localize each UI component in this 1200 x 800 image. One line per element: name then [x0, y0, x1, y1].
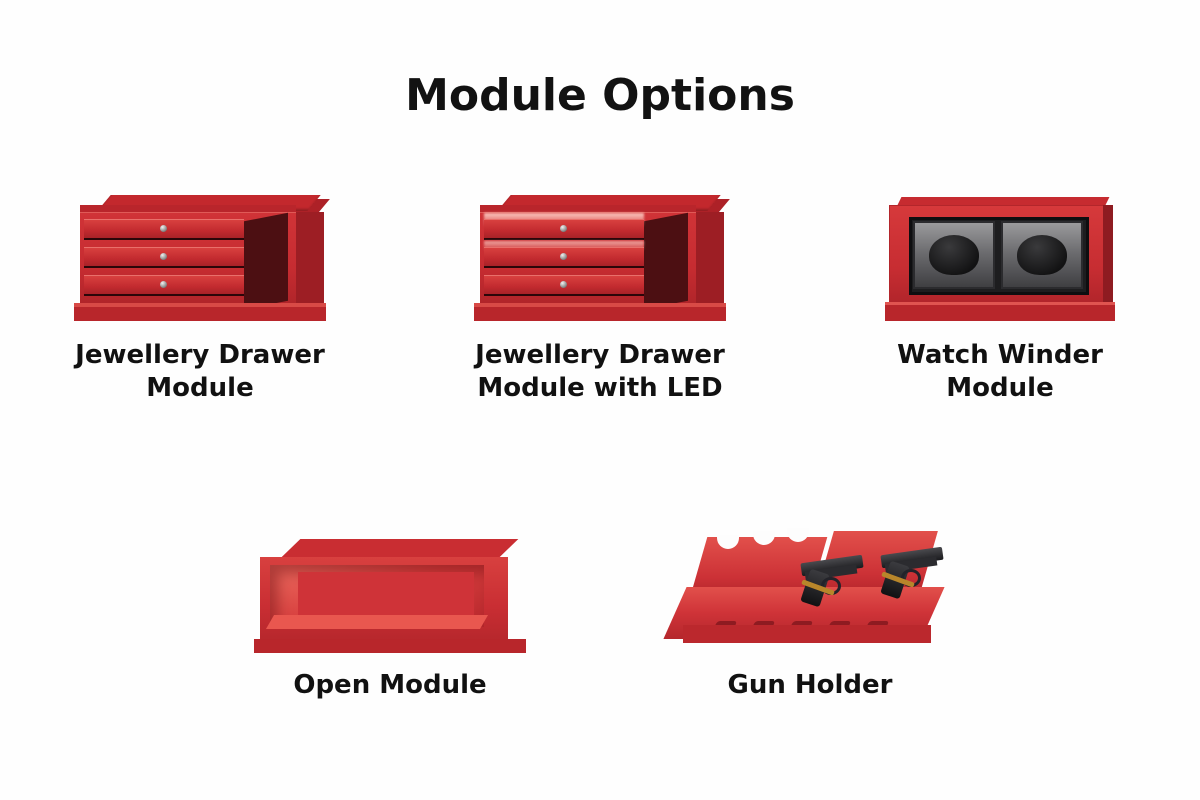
module-caption: Jewellery Drawer Module — [35, 339, 365, 406]
open-module-base — [254, 639, 526, 653]
open-module-inner-floor — [266, 615, 488, 629]
module-card-jewellery-drawer-module-with-led[interactable]: Jewellery Drawer Module with LED — [400, 180, 800, 406]
module-caption-line-2: Module — [835, 372, 1165, 405]
winder-right-side — [1103, 205, 1113, 309]
watch-cushion-icon — [929, 235, 979, 275]
drawer-2 — [84, 247, 244, 268]
pistol-2-icon — [875, 547, 945, 599]
module-caption-line-1: Watch Winder — [835, 339, 1165, 372]
module-caption-line-1: Open Module — [225, 669, 555, 702]
module-card-open-module[interactable]: Open Module — [180, 510, 600, 702]
module-card-watch-winder-module[interactable]: Watch Winder Module — [800, 180, 1200, 406]
drawer-knob-icon — [560, 253, 567, 260]
drawer-knob-icon — [160, 253, 167, 260]
drawer-2 — [484, 247, 644, 268]
jewellery-drawer-module-illustration — [50, 180, 350, 325]
module-caption: Watch Winder Module — [835, 339, 1165, 406]
module-right-side — [296, 212, 324, 312]
jewellery-drawer-module-with-led-illustration — [450, 180, 750, 325]
open-module-top-face — [280, 539, 519, 559]
module-row-bottom: Open Module — [0, 510, 1200, 702]
module-card-gun-holder[interactable]: Gun Holder — [600, 510, 1020, 702]
watch-winder-module-illustration — [850, 180, 1150, 325]
gun-holder-illustration — [660, 510, 960, 655]
watch-winder-slot-2 — [1001, 221, 1083, 289]
module-caption: Gun Holder — [645, 669, 975, 702]
drawer-knob-icon — [560, 225, 567, 232]
open-module-illustration — [240, 510, 540, 655]
pistol-1-icon — [795, 555, 865, 607]
drawer-3 — [84, 275, 244, 296]
drawer-knob-icon — [560, 281, 567, 288]
drawer-knob-icon — [160, 225, 167, 232]
module-caption-line-1: Jewellery Drawer — [435, 339, 765, 372]
module-row-top: Jewellery Drawer Module — [0, 180, 1200, 406]
winder-base — [885, 305, 1115, 321]
page-title: Module Options — [0, 70, 1200, 121]
module-options-figure: Module Options — [0, 0, 1200, 800]
module-caption-line-2: Module with LED — [435, 372, 765, 405]
module-caption-line-1: Gun Holder — [645, 669, 975, 702]
module-base — [474, 307, 726, 321]
module-right-side — [696, 212, 724, 312]
drawer-knob-icon — [160, 281, 167, 288]
module-open-cavity — [644, 213, 688, 310]
module-base — [74, 307, 326, 321]
gun-holder-front-edge — [683, 625, 931, 643]
watch-winder-slot-1 — [913, 221, 995, 289]
drawer-3 — [484, 275, 644, 296]
drawer-1 — [84, 219, 244, 240]
module-caption: Open Module — [225, 669, 555, 702]
module-caption-line-2: Module — [35, 372, 365, 405]
module-open-cavity — [244, 213, 288, 310]
watch-cushion-icon — [1017, 235, 1067, 275]
open-module-back-wall — [298, 572, 474, 616]
module-caption-line-1: Jewellery Drawer — [35, 339, 365, 372]
module-card-jewellery-drawer-module[interactable]: Jewellery Drawer Module — [0, 180, 400, 406]
module-caption: Jewellery Drawer Module with LED — [435, 339, 765, 406]
drawer-1 — [484, 219, 644, 240]
